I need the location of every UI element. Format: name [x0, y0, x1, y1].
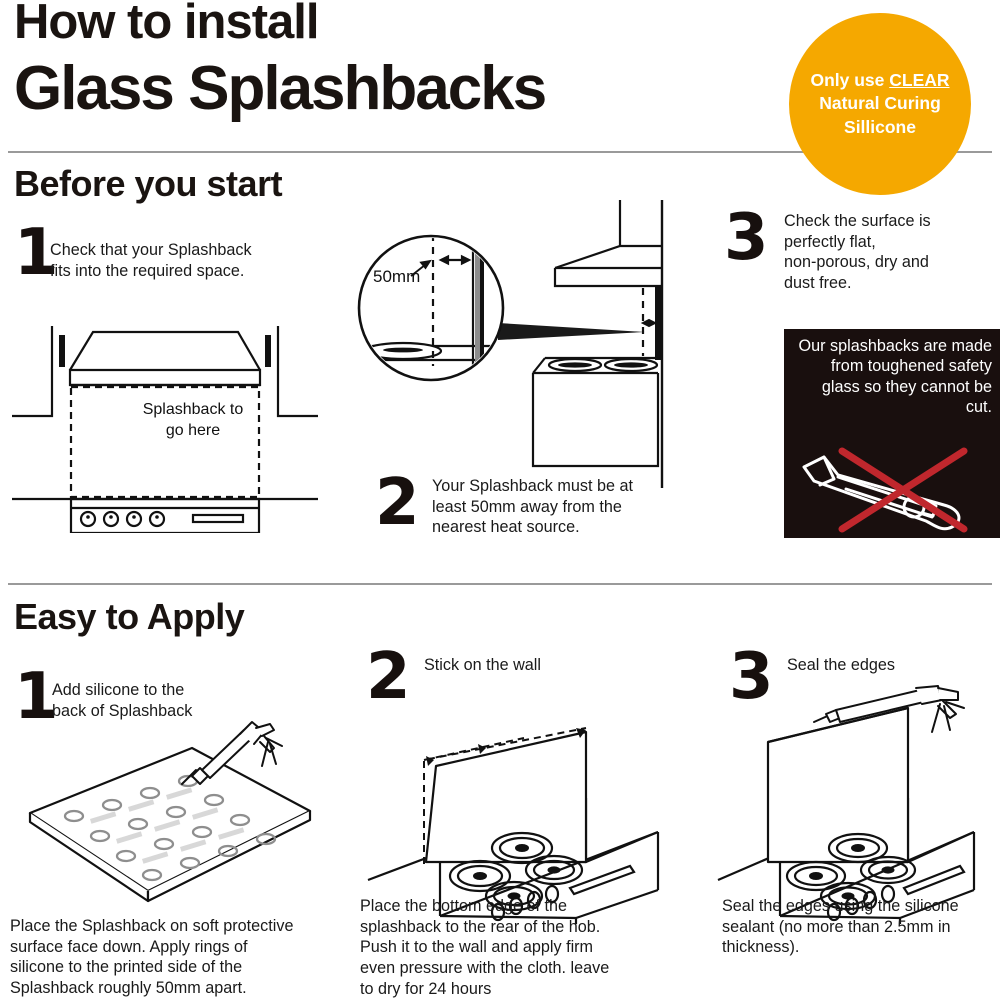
- section-heading-easy-to-apply: Easy to Apply: [14, 599, 244, 635]
- badge-line3: Sillicone: [844, 116, 916, 140]
- badge-line1: Only use CLEAR: [810, 69, 949, 93]
- badge-line2: Natural Curing: [819, 92, 941, 116]
- caulking-gun-icon-apply-3: [812, 684, 972, 766]
- section-heading-before-you-start: Before you start: [14, 166, 282, 202]
- step-caption-apply-1: Place the Splashback on soft protective …: [10, 916, 300, 999]
- warning-box-cannot-be-cut: Our splashbacks are made from toughened …: [784, 329, 1000, 538]
- caulking-gun-icon-apply-1: [178, 718, 298, 798]
- badge-line1-emphasis: CLEAR: [889, 70, 949, 90]
- silicone-warning-badge: Only use CLEAR Natural Curing Sillicone: [789, 13, 971, 195]
- divider-middle: [8, 583, 992, 585]
- step-text-apply-3: Seal the edges: [787, 655, 1000, 676]
- step-caption-apply-2: Place the bottom edge of the splashback …: [360, 896, 625, 1000]
- crossed-out-box-cutter-icon: [794, 445, 990, 533]
- step-number-before-2: 2: [375, 478, 420, 529]
- step-caption-apply-3: Seal the edges using the silicone sealan…: [722, 896, 982, 958]
- figure-stick-on-wall: [358, 680, 688, 930]
- step-text-before-2: Your Splashback must be at least 50mm aw…: [432, 476, 682, 538]
- figure-heat-clearance: 50mm: [355, 198, 700, 488]
- page-title-line1: How to install: [14, 0, 319, 47]
- step-text-apply-2: Stick on the wall: [424, 655, 674, 676]
- figure-label-splashback-here: Splashback to go here: [118, 400, 268, 442]
- figure-label-line2: go here: [118, 421, 268, 442]
- step-text-before-1: Check that your Splashback fits into the…: [50, 240, 305, 281]
- step-text-before-3: Check the surface is perfectly flat, non…: [784, 211, 1000, 293]
- figure-label-line1: Splashback to: [118, 400, 268, 421]
- badge-line1-prefix: Only use: [810, 70, 889, 90]
- warning-box-text: Our splashbacks are made from toughened …: [792, 336, 992, 418]
- installation-guide-poster: How to install Glass Splashbacks Only us…: [0, 0, 1000, 1000]
- page-title-line2: Glass Splashbacks: [14, 58, 545, 120]
- measure-label-50mm: 50mm: [373, 267, 420, 286]
- step-number-before-3: 3: [724, 213, 769, 264]
